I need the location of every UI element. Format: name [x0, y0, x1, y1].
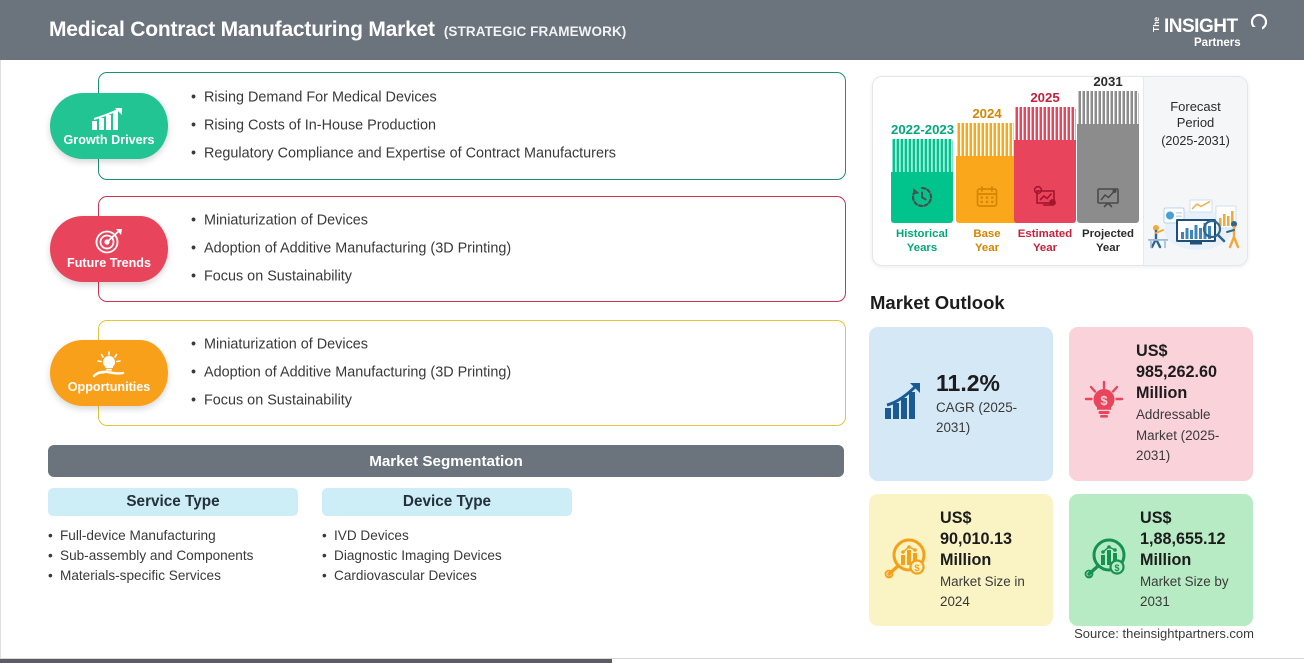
- timeline-year-label: 2025: [1014, 90, 1076, 105]
- timeline-bar-stripes: [1077, 91, 1139, 124]
- timeline-bar: [891, 139, 953, 223]
- timeline-year-label: 2031: [1077, 76, 1139, 89]
- timeline-caption-line2: Year: [1014, 241, 1076, 255]
- forecast-period-range: (2025-2031): [1161, 134, 1230, 148]
- list-item: Full-device Manufacturing: [48, 526, 253, 546]
- panel-growth-drivers: Rising Demand For Medical Devices Rising…: [98, 72, 846, 180]
- forecast-title-line2: Period: [1170, 115, 1221, 131]
- svg-text:$: $: [1114, 563, 1119, 573]
- horizontal-scrollbar[interactable]: [0, 658, 1304, 663]
- estimate-chart-gear-icon: [1014, 185, 1076, 209]
- forecast-timeline-widget: 2022-2023 Historical Years 2024: [872, 76, 1248, 266]
- timeline-caption-line2: Year: [956, 241, 1018, 255]
- list-item: Diagnostic Imaging Devices: [322, 546, 502, 566]
- outlook-card-text: US$ 985,262.60 Million Addressable Marke…: [1136, 341, 1253, 467]
- outlook-card-value: US$ 90,010.13 Million: [940, 508, 1043, 571]
- timeline-caption-line1: Projected: [1077, 227, 1139, 241]
- timeline-bar: [956, 123, 1018, 223]
- outlook-card-addressable-market[interactable]: $ US$ 985,262.60 Million Addressable Mar…: [1069, 327, 1253, 481]
- lightbulb-dollar-icon: $: [1083, 380, 1125, 429]
- timeline-bar-stripes: [891, 139, 953, 172]
- list-item: Adoption of Additive Manufacturing (3D P…: [191, 359, 831, 387]
- timeline-year-label: 2022-2023: [891, 122, 953, 137]
- list-item: Miniaturization of Devices: [191, 207, 831, 235]
- lightbulb-hand-icon: [92, 352, 126, 378]
- timeline-bar-base: 2024 Base: [956, 106, 1018, 255]
- page-title: Medical Contract Manufacturing Market: [49, 18, 435, 42]
- timeline-bar-estimated: 2025 Estimated Year: [1014, 90, 1076, 255]
- segmentation-column-heading-device-type: Device Type: [322, 488, 572, 516]
- timeline-bar: [1014, 107, 1076, 223]
- timeline-bar-projected: 2031 Projected Year: [1077, 76, 1139, 255]
- list-item: Sub-assembly and Components: [48, 546, 253, 566]
- segmentation-heading-label: Device Type: [403, 493, 491, 511]
- timeline-year-label: 2024: [956, 106, 1018, 121]
- bar-chart-arrow-icon: [883, 382, 925, 427]
- segmentation-list-service-type: Full-device Manufacturing Sub-assembly a…: [48, 526, 253, 586]
- outlook-card-market-size-2031[interactable]: $ $ US$ 1,88,655.12 Million Market Size …: [1069, 494, 1253, 626]
- timeline-bar-stripes: [1014, 107, 1076, 140]
- forecast-period-panel: Forecast Period (2025-2031): [1143, 77, 1247, 265]
- outlook-card-value: US$ 985,262.60 Million: [1136, 341, 1243, 404]
- forecast-title-line1: Forecast: [1170, 99, 1221, 115]
- page-subtitle: (STRATEGIC FRAMEWORK): [444, 24, 627, 39]
- outlook-card-text: US$ 90,010.13 Million Market Size in 202…: [940, 508, 1053, 613]
- page-left-border: [0, 60, 1, 663]
- badge-label: Growth Drivers: [64, 133, 155, 147]
- target-dart-icon: [94, 228, 124, 254]
- list-item: Miniaturization of Devices: [191, 331, 831, 359]
- segmentation-list-device-type: IVD Devices Diagnostic Imaging Devices C…: [322, 526, 502, 586]
- list-item: Cardiovascular Devices: [322, 566, 502, 586]
- outlook-card-value: 11.2%: [936, 370, 1043, 397]
- panel-future-trends: Miniaturization of Devices Adoption of A…: [98, 196, 846, 302]
- timeline-caption-line1: Base: [956, 227, 1018, 241]
- bar-chart-growth-icon: [91, 105, 127, 131]
- projection-monitor-icon: [1077, 185, 1139, 209]
- timeline-caption: Base Year: [956, 227, 1018, 255]
- badge-label: Opportunities: [68, 380, 151, 394]
- page-header: Medical Contract Manufacturing Market (S…: [0, 0, 1304, 60]
- timeline-caption: Projected Year: [1077, 227, 1139, 255]
- segmentation-column-heading-service-type: Service Type: [48, 488, 298, 516]
- badge-label: Future Trends: [67, 256, 151, 270]
- badge-opportunities[interactable]: Opportunities: [50, 340, 168, 406]
- timeline-bar-stripes: [956, 123, 1018, 156]
- timeline-caption-line2: Years: [891, 241, 953, 255]
- list-item: Materials-specific Services: [48, 566, 253, 586]
- calendar-icon: [956, 185, 1018, 209]
- outlook-card-label: CAGR (2025-2031): [936, 398, 1043, 439]
- svg-text:The: The: [1151, 17, 1161, 32]
- svg-text:$: $: [1100, 393, 1108, 408]
- market-segmentation-header: Market Segmentation: [48, 445, 844, 477]
- clock-history-icon: [891, 185, 953, 209]
- badge-growth-drivers[interactable]: Growth Drivers: [50, 93, 168, 159]
- panel-growth-drivers-list: Rising Demand For Medical Devices Rising…: [191, 84, 831, 169]
- source-attribution: Source: theinsightpartners.com: [1074, 626, 1254, 641]
- svg-text:Partners: Partners: [1194, 37, 1241, 49]
- list-item: Rising Demand For Medical Devices: [191, 84, 831, 112]
- outlook-card-label: Addressable Market (2025-2031): [1136, 405, 1243, 467]
- panel-opportunities: Miniaturization of Devices Adoption of A…: [98, 320, 846, 426]
- person-left: [1152, 225, 1163, 247]
- outlook-card-label: Market Size by 2031: [1140, 572, 1243, 613]
- list-item: Adoption of Additive Manufacturing (3D P…: [191, 235, 831, 263]
- list-item: Regulatory Compliance and Expertise of C…: [191, 140, 831, 168]
- scrollbar-thumb[interactable]: [0, 659, 612, 663]
- outlook-card-text: US$ 1,88,655.12 Million Market Size by 2…: [1140, 508, 1253, 613]
- svg-text:INSIGHT: INSIGHT: [1164, 16, 1238, 37]
- magnifier-bars-dollar-icon: $ $: [1083, 537, 1129, 584]
- timeline-bar: [1077, 91, 1139, 223]
- forecast-period-title: Forecast Period: [1170, 99, 1221, 131]
- outlook-card-value: US$ 1,88,655.12 Million: [1140, 508, 1243, 571]
- list-item: IVD Devices: [322, 526, 502, 546]
- outlook-card-label: Market Size in 2024: [940, 572, 1043, 613]
- outlook-card-market-size-2024[interactable]: $ $ US$ 90,010.13 Million Market Size in…: [869, 494, 1053, 626]
- timeline-caption-line1: Estimated: [1014, 227, 1076, 241]
- panel-opportunities-list: Miniaturization of Devices Adoption of A…: [191, 331, 831, 416]
- market-segmentation-title: Market Segmentation: [369, 453, 523, 470]
- insight-partners-logo: The INSIGHT Partners: [1146, 10, 1276, 52]
- outlook-card-text: 11.2% CAGR (2025-2031): [936, 370, 1053, 439]
- timeline-caption: Historical Years: [891, 227, 953, 255]
- outlook-card-cagr[interactable]: 11.2% CAGR (2025-2031): [869, 327, 1053, 481]
- timeline-caption-line2: Year: [1077, 241, 1139, 255]
- list-item: Focus on Sustainability: [191, 263, 831, 291]
- business-analytics-illustration: [1146, 192, 1246, 259]
- header-title-wrap: Medical Contract Manufacturing Market (S…: [49, 18, 626, 42]
- infographic-page: Medical Contract Manufacturing Market (S…: [0, 0, 1304, 663]
- list-item: Rising Costs of In-House Production: [191, 112, 831, 140]
- segmentation-heading-label: Service Type: [126, 493, 219, 511]
- timeline-bar-historical: 2022-2023 Historical Years: [891, 122, 953, 255]
- panel-future-trends-list: Miniaturization of Devices Adoption of A…: [191, 207, 831, 292]
- timeline-caption: Estimated Year: [1014, 227, 1076, 255]
- magnifier-bars-dollar-icon: $ $: [883, 537, 929, 584]
- timeline-caption-line1: Historical: [891, 227, 953, 241]
- market-outlook-title: Market Outlook: [870, 292, 1005, 314]
- list-item: Focus on Sustainability: [191, 387, 831, 415]
- badge-future-trends[interactable]: Future Trends: [50, 216, 168, 282]
- svg-text:$: $: [914, 563, 919, 573]
